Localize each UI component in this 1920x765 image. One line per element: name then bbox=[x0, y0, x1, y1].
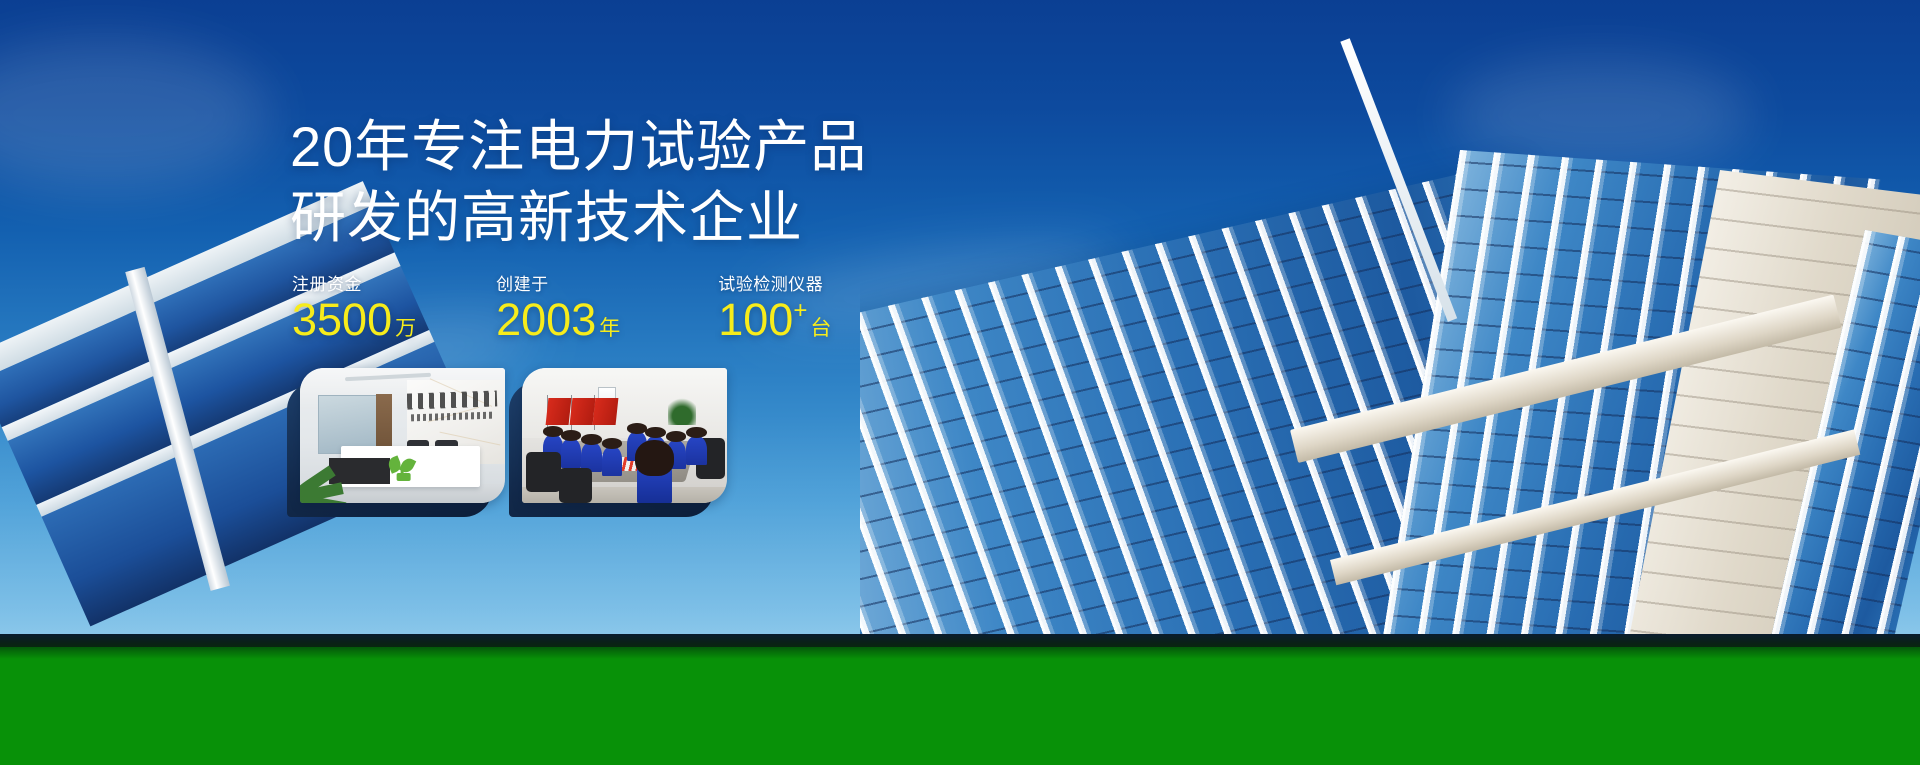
stat-value-group: 3500 万 bbox=[292, 297, 416, 342]
potted-plant-icon bbox=[300, 449, 345, 503]
conference-meeting-photo bbox=[522, 368, 727, 503]
banner-headline: 20年专注电力试验产品 研发的高新技术企业 bbox=[290, 112, 1010, 253]
stat-number: 3500 bbox=[292, 297, 392, 342]
stat-unit: 万 bbox=[395, 318, 416, 339]
stats-row: 注册资金 3500 万 创建于 2003 年 试验检测仪器 100 + 台 bbox=[292, 270, 893, 342]
cloud-wisp-icon bbox=[0, 40, 270, 190]
photo-card-reception[interactable] bbox=[300, 368, 505, 503]
stat-label: 创建于 bbox=[496, 270, 620, 295]
headline-line-1: 20年专注电力试验产品 bbox=[290, 112, 1010, 183]
flag-icon bbox=[545, 398, 570, 425]
stat-registered-capital: 注册资金 3500 万 bbox=[292, 270, 416, 342]
flag-icon bbox=[570, 398, 595, 425]
stat-number: 2003 bbox=[496, 297, 596, 342]
stat-number: 100 bbox=[718, 297, 793, 342]
flag-icon bbox=[592, 398, 617, 425]
stat-value-group: 2003 年 bbox=[496, 297, 620, 342]
stat-founded-year: 创建于 2003 年 bbox=[496, 270, 620, 342]
stat-value-group: 100 + 台 bbox=[718, 297, 831, 342]
hero-banner: 20年专注电力试验产品 研发的高新技术企业 注册资金 3500 万 创建于 20… bbox=[0, 0, 1920, 765]
office-reception-photo bbox=[300, 368, 505, 503]
stat-label: 试验检测仪器 bbox=[718, 270, 831, 295]
headline-line-2: 研发的高新技术企业 bbox=[290, 183, 1010, 254]
stat-test-instruments: 试验检测仪器 100 + 台 bbox=[718, 270, 831, 342]
stat-unit: 年 bbox=[599, 318, 620, 339]
stat-superscript: + bbox=[793, 299, 807, 323]
photo-card-meeting[interactable] bbox=[522, 368, 727, 503]
green-footer-bar bbox=[0, 647, 1920, 765]
stat-label: 注册资金 bbox=[292, 270, 416, 295]
dark-separator-band bbox=[0, 634, 1920, 647]
company-logo-icon bbox=[387, 457, 418, 483]
glass-tower-cluster bbox=[860, 0, 1920, 700]
stat-unit: 台 bbox=[810, 318, 831, 339]
photo-card-row bbox=[300, 368, 744, 503]
